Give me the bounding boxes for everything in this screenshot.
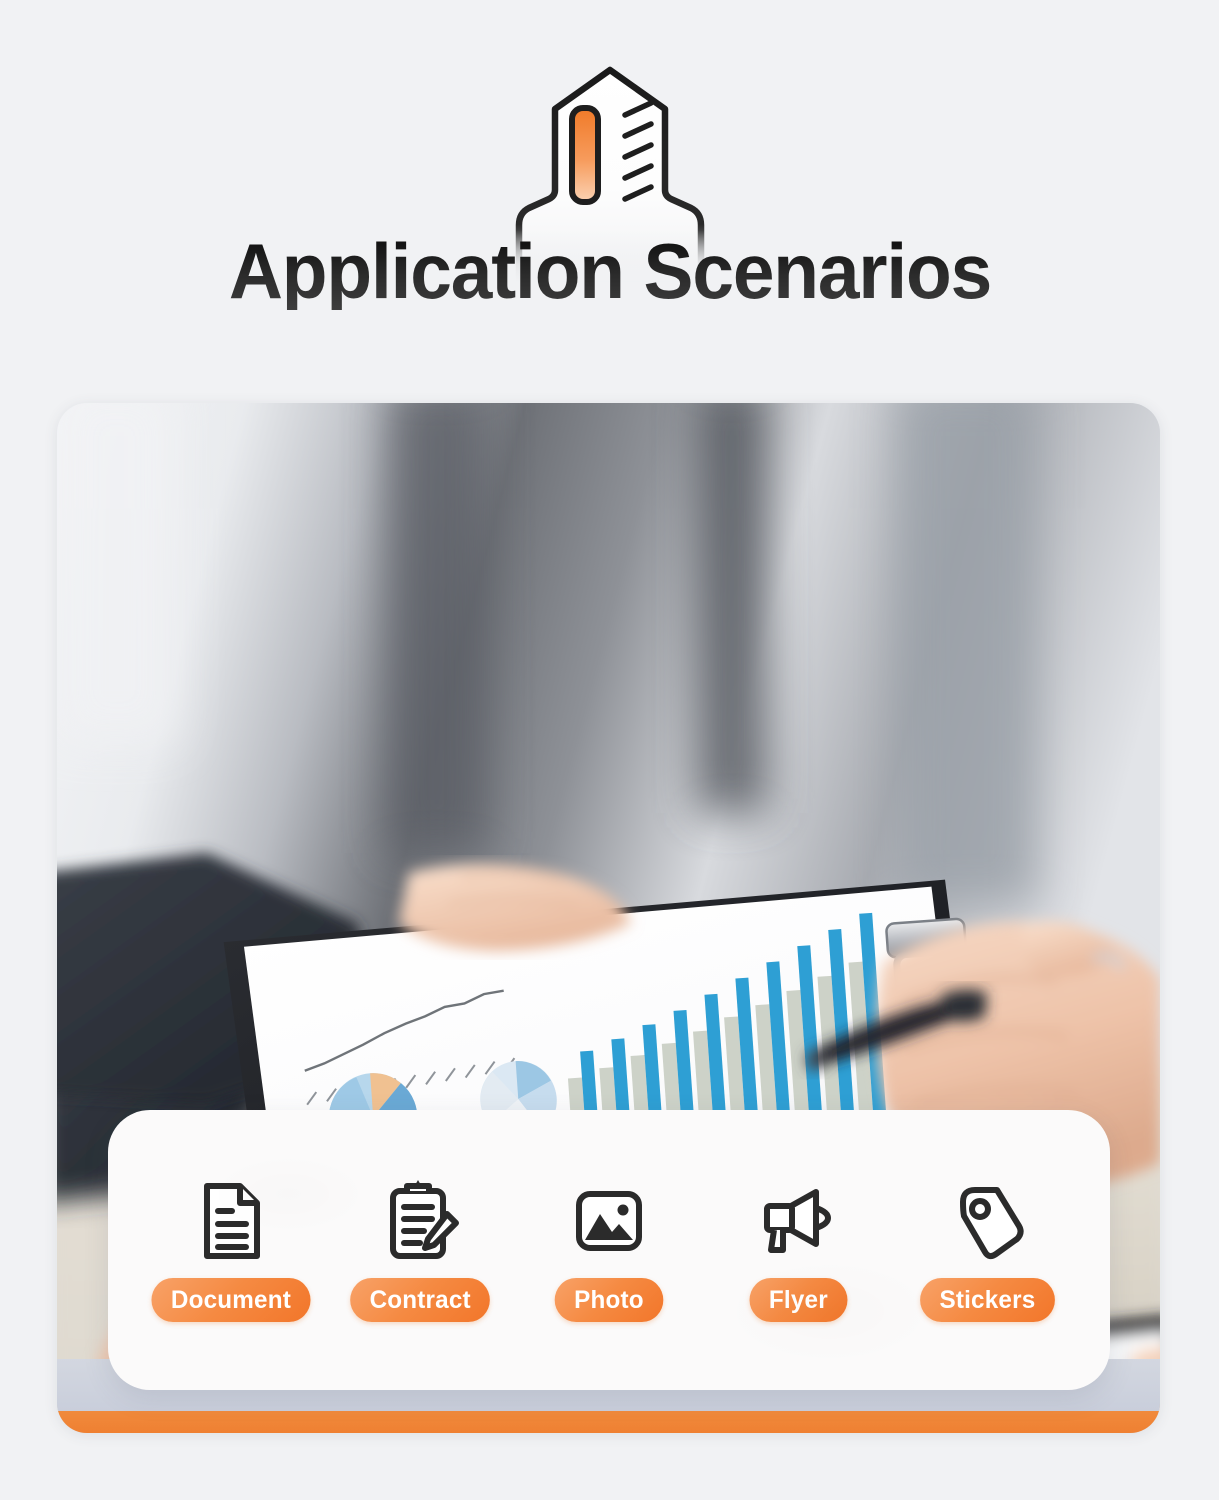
page-title-row: Application Scenarios bbox=[0, 232, 1219, 310]
tag-icon bbox=[944, 1178, 1030, 1264]
category-pill-flyer[interactable]: Flyer bbox=[749, 1278, 847, 1322]
category-pill-document[interactable]: Document bbox=[151, 1278, 310, 1322]
category-item-stickers[interactable]: Stickers bbox=[893, 1178, 1082, 1322]
category-item-document[interactable]: Document bbox=[136, 1178, 325, 1322]
category-item-flyer[interactable]: Flyer bbox=[704, 1178, 893, 1322]
photo-icon bbox=[566, 1178, 652, 1264]
page-title: Application Scenarios bbox=[228, 232, 990, 310]
category-pill-stickers[interactable]: Stickers bbox=[920, 1278, 1055, 1322]
page-header: Application Scenarios bbox=[0, 0, 1219, 390]
document-icon bbox=[188, 1178, 274, 1264]
application-scenarios-page: Application Scenarios bbox=[0, 0, 1219, 1500]
contract-icon bbox=[377, 1178, 463, 1264]
category-pill-contract[interactable]: Contract bbox=[350, 1278, 490, 1322]
category-item-contract[interactable]: Contract bbox=[325, 1178, 514, 1322]
photo-accent-bar bbox=[57, 1411, 1160, 1433]
category-pill-photo[interactable]: Photo bbox=[555, 1278, 663, 1322]
category-list: Document bbox=[108, 1110, 1110, 1390]
megaphone-icon bbox=[755, 1178, 841, 1264]
category-item-photo[interactable]: Photo bbox=[514, 1178, 703, 1322]
category-card: Document bbox=[108, 1110, 1110, 1390]
